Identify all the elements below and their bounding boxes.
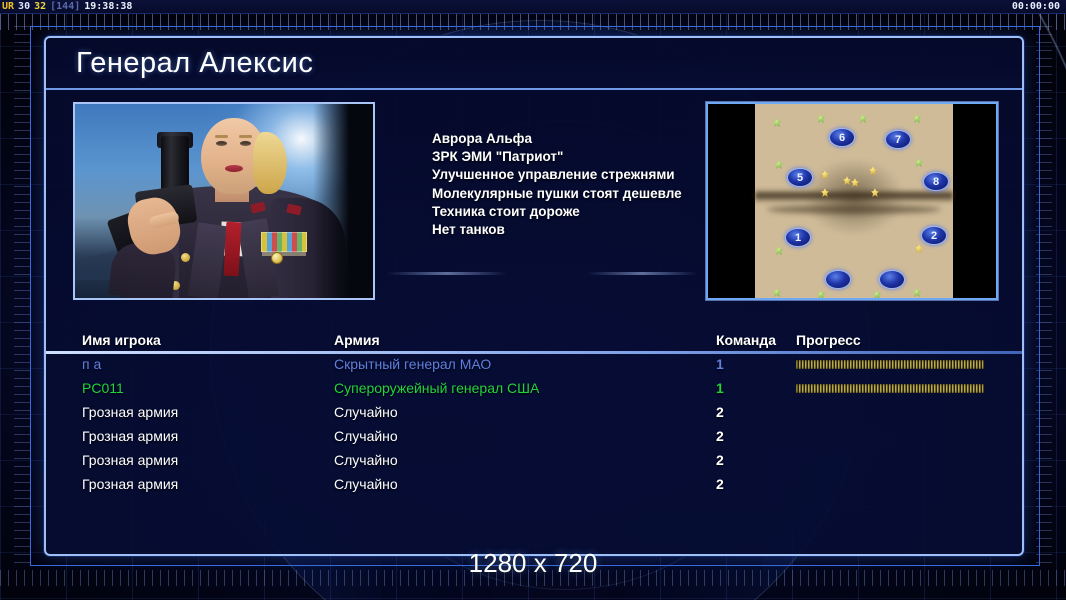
status-bar: UR 30 32 [144] 19:38:38 00:00:00 — [0, 0, 1066, 14]
portrait-button — [181, 253, 190, 262]
cell-army: Случайно — [334, 428, 398, 444]
status-bar-left: UR 30 32 [144] 19:38:38 — [0, 1, 132, 12]
table-row[interactable]: п аСкрытный генерал МАО1 — [46, 354, 1022, 378]
accent-line — [587, 272, 697, 275]
map-resource-marker — [817, 114, 825, 123]
map-river-secondary — [767, 205, 941, 214]
map-start-position: 6 — [829, 128, 855, 147]
cell-army: Скрытный генерал МАО — [334, 356, 491, 372]
cell-team: 1 — [716, 356, 724, 372]
map-start-position: 8 — [923, 172, 949, 191]
map-start-position: 2 — [921, 226, 947, 245]
map-start-position — [879, 270, 905, 289]
map-resource-marker — [915, 158, 923, 167]
general-portrait-frame — [73, 102, 375, 300]
portrait-eyebrow-right — [239, 135, 252, 138]
general-description: Аврора Альфа ЗРК ЭМИ "Патриот" Улучшенно… — [432, 130, 682, 239]
map-resource-marker — [915, 244, 923, 253]
game-screen: UR 30 32 [144] 19:38:38 00:00:00 Генерал… — [0, 0, 1066, 600]
player-table: Имя игрока Армия Команда Прогресс п аСкр… — [46, 330, 1022, 498]
table-row[interactable]: Грозная армияСлучайно2 — [46, 450, 1022, 474]
status-bracket: [144] — [50, 1, 80, 12]
accent-line — [387, 272, 507, 275]
cell-team: 2 — [716, 476, 724, 492]
portrait-lips — [225, 165, 243, 172]
portrait-vignette — [313, 104, 373, 298]
general-info-area: Аврора Альфа ЗРК ЭМИ "Патриот" Улучшенно… — [46, 102, 1022, 320]
table-row[interactable]: Грозная армияСлучайно2 — [46, 426, 1022, 450]
cell-team: 2 — [716, 404, 724, 420]
portrait-hair-side — [253, 132, 287, 194]
map-resource-marker — [775, 246, 783, 255]
map-preview-frame[interactable]: 675812 — [706, 102, 998, 300]
portrait-eye-right — [240, 141, 251, 146]
column-header-army: Армия — [334, 332, 380, 348]
player-table-body: п аСкрытный генерал МАО1PC011Супероружей… — [46, 354, 1022, 498]
map-start-position — [825, 270, 851, 289]
cell-army: Случайно — [334, 404, 398, 420]
map-resource-marker — [859, 114, 867, 123]
map-resource-marker — [817, 290, 825, 299]
cell-team: 1 — [716, 380, 724, 396]
column-header-player: Имя игрока — [82, 332, 161, 348]
cell-army: Супероружейный генерал США — [334, 380, 539, 396]
column-header-progress: Прогресс — [796, 332, 861, 348]
progress-bar — [796, 360, 984, 369]
page-title: Генерал Алексис — [76, 47, 313, 80]
column-header-team: Команда — [716, 332, 776, 348]
cell-army: Случайно — [334, 452, 398, 468]
resolution-caption: 1280 x 720 — [0, 548, 1066, 579]
status-value-a: 30 — [18, 1, 30, 12]
ruler-top — [0, 14, 1066, 30]
status-value-b: 32 — [34, 1, 46, 12]
portrait-eye-left — [216, 141, 227, 146]
ruler-left — [14, 26, 30, 570]
map-resource-marker — [873, 290, 881, 299]
cell-player-name: Грозная армия — [82, 476, 178, 492]
map-river — [755, 189, 953, 203]
map-start-position: 7 — [885, 130, 911, 149]
table-row[interactable]: Грозная армияСлучайно2 — [46, 402, 1022, 426]
map-preview-image: 675812 — [755, 104, 953, 298]
table-row[interactable]: Грозная армияСлучайно2 — [46, 474, 1022, 498]
window-title-bar: Генерал Алексис — [46, 38, 1022, 90]
cell-player-name: п а — [82, 356, 101, 372]
general-portrait — [75, 104, 373, 298]
player-table-header: Имя игрока Армия Команда Прогресс — [46, 330, 1022, 354]
table-row[interactable]: PC011Супероружейный генерал США1 — [46, 378, 1022, 402]
portrait-tie — [224, 222, 242, 277]
ruler-right — [1036, 26, 1052, 570]
portrait-eyebrow-left — [215, 135, 228, 138]
map-start-position: 5 — [787, 168, 813, 187]
status-clock: 19:38:38 — [84, 1, 132, 12]
cell-player-name: Грозная армия — [82, 404, 178, 420]
cell-player-name: Грозная армия — [82, 428, 178, 444]
cell-army: Случайно — [334, 476, 398, 492]
cell-team: 2 — [716, 452, 724, 468]
cell-player-name: Грозная армия — [82, 452, 178, 468]
lobby-window: Генерал Алексис — [44, 36, 1024, 556]
map-resource-marker — [773, 288, 781, 297]
portrait-medal-ribbons — [261, 232, 307, 252]
progress-bar — [796, 384, 984, 393]
status-tag: UR — [2, 1, 14, 12]
cell-player-name: PC011 — [82, 380, 124, 396]
status-timer: 00:00:00 — [1012, 1, 1066, 12]
map-resource-marker — [773, 118, 781, 127]
cell-team: 2 — [716, 428, 724, 444]
portrait-medal — [271, 252, 283, 264]
general-description-zone: Аврора Альфа ЗРК ЭМИ "Патриот" Улучшенно… — [387, 102, 681, 300]
map-resource-marker — [775, 160, 783, 169]
map-resource-marker — [913, 288, 921, 297]
map-start-position: 1 — [785, 228, 811, 247]
map-resource-marker — [913, 114, 921, 123]
